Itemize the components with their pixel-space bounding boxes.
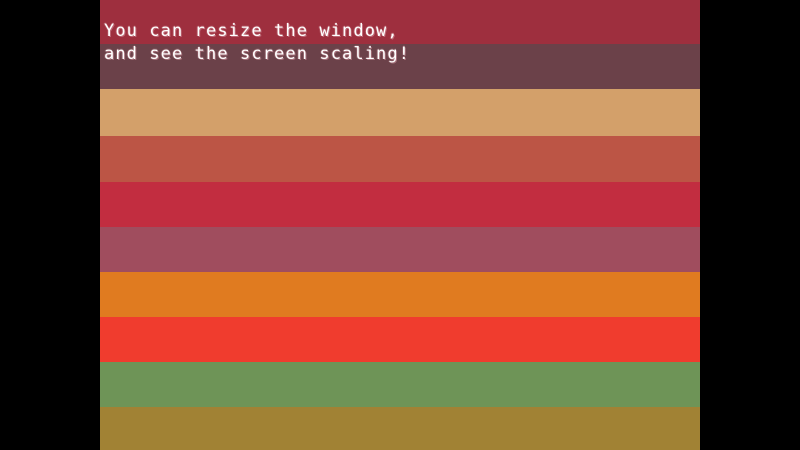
band-plum — [100, 44, 700, 89]
band-dusty-rose — [100, 227, 700, 272]
color-band-stack — [100, 0, 700, 450]
band-crimson — [100, 182, 700, 227]
band-bright-red — [100, 317, 700, 362]
letterbox-left — [0, 0, 100, 450]
band-green — [100, 362, 700, 407]
band-olive — [100, 407, 700, 450]
band-tan — [100, 89, 700, 136]
band-brick — [100, 136, 700, 182]
letterbox-right — [700, 0, 800, 450]
app-window: You can resize the window, and see the s… — [0, 0, 800, 450]
band-orange — [100, 272, 700, 317]
band-dark-red — [100, 0, 700, 44]
scaled-screen-surface[interactable]: You can resize the window, and see the s… — [100, 0, 700, 450]
